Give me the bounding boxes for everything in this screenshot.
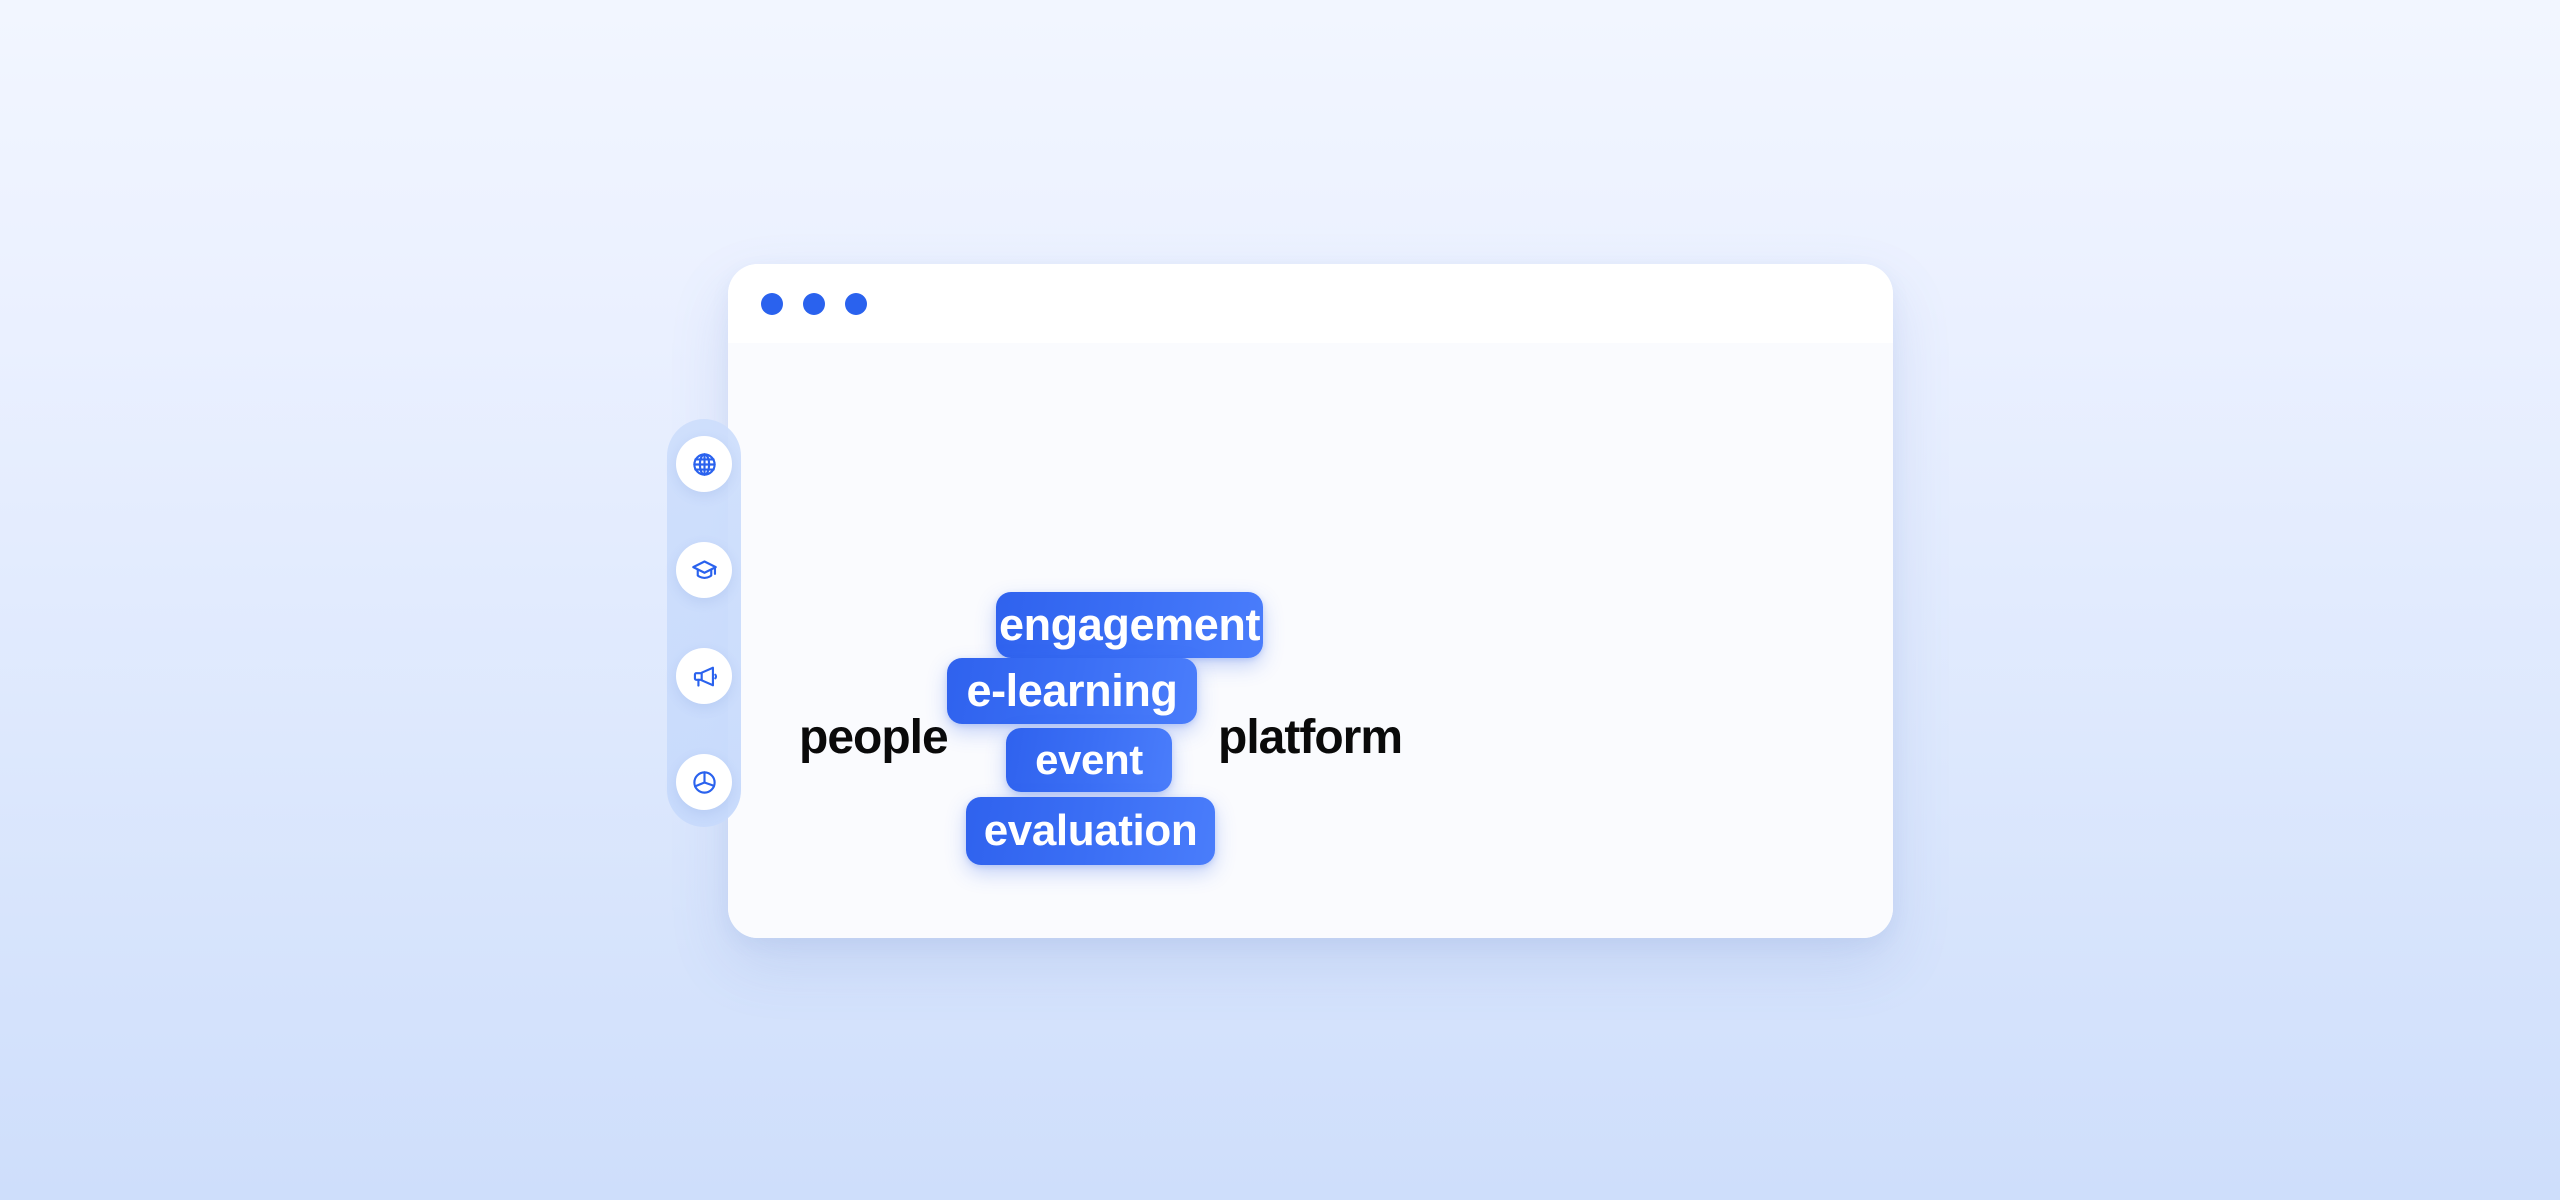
word-pill-elearning[interactable]: e-learning xyxy=(947,658,1197,724)
word-pill-event[interactable]: event xyxy=(1006,728,1172,792)
browser-titlebar xyxy=(728,264,1893,343)
graduation-cap-icon xyxy=(691,557,718,584)
rail-item-globe[interactable] xyxy=(676,436,732,492)
word-pill-evaluation[interactable]: evaluation xyxy=(966,797,1215,865)
browser-content-area xyxy=(728,343,1893,938)
rail-item-education[interactable] xyxy=(676,542,732,598)
megaphone-icon xyxy=(691,663,718,690)
rail-item-analytics[interactable] xyxy=(676,754,732,810)
word-platform: platform xyxy=(1218,714,1402,762)
illustration-stage: people engagement e-learning event evalu… xyxy=(0,0,2560,1200)
word-people: people xyxy=(799,714,948,762)
rail-item-announcements[interactable] xyxy=(676,648,732,704)
browser-window-card xyxy=(728,264,1893,938)
globe-icon xyxy=(691,451,718,478)
window-dot-close[interactable] xyxy=(761,293,783,315)
pie-chart-icon xyxy=(691,769,718,796)
window-dot-maximize[interactable] xyxy=(845,293,867,315)
icon-rail xyxy=(667,419,741,827)
window-dot-minimize[interactable] xyxy=(803,293,825,315)
window-controls xyxy=(761,293,867,315)
word-pill-engagement[interactable]: engagement xyxy=(996,592,1263,658)
